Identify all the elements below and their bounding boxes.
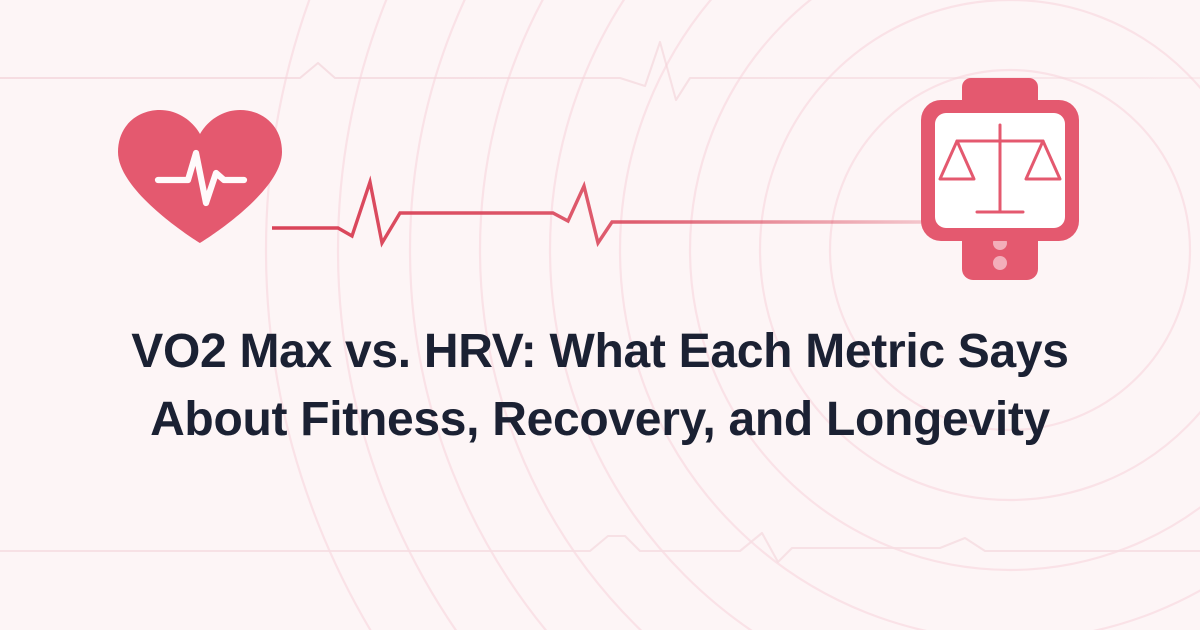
hero-card: VO2 Max vs. HRV: What Each Metric Says A… (0, 0, 1200, 630)
artwork-row (0, 0, 1200, 300)
heart-with-pulse-icon (118, 110, 282, 243)
ecg-heartbeat-line (272, 182, 930, 243)
smartwatch-icon (921, 78, 1079, 280)
page-title: VO2 Max vs. HRV: What Each Metric Says A… (120, 318, 1080, 454)
faint-ecg-line-bottom (0, 533, 1200, 562)
watch-button-dot-2 (993, 256, 1007, 270)
title-block: VO2 Max vs. HRV: What Each Metric Says A… (0, 318, 1200, 454)
